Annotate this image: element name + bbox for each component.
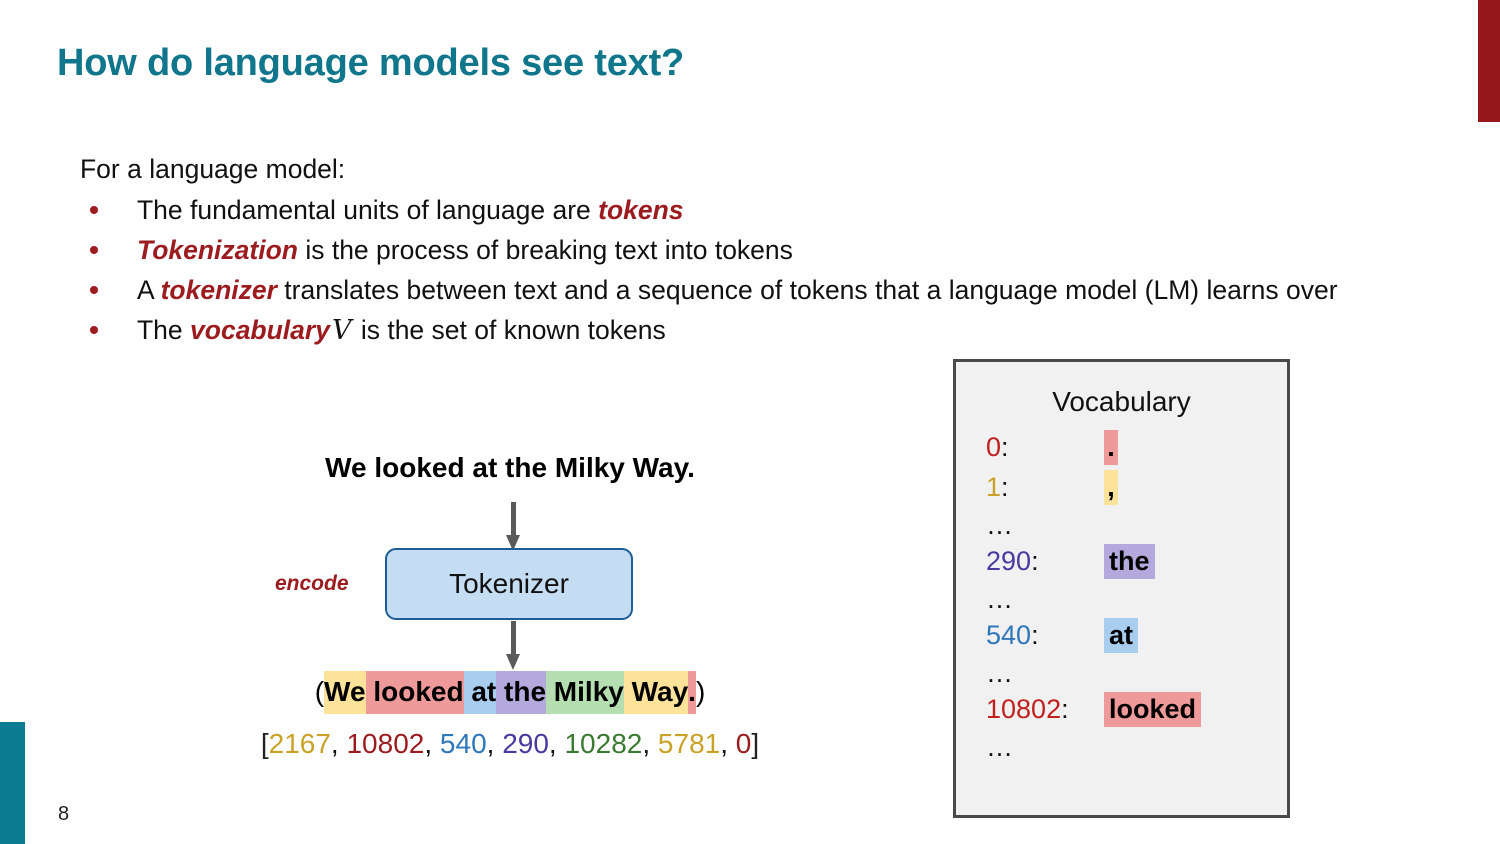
token-chip: looked (366, 671, 464, 714)
vocabulary-entry-value: at (1104, 618, 1138, 653)
id-separator: , (487, 728, 503, 759)
vocabulary-id-colon: : (1001, 472, 1009, 502)
vocabulary-id-colon: : (1001, 432, 1009, 462)
token-id: 10282 (564, 728, 642, 759)
arrow-down-to-tokens-icon (506, 621, 520, 673)
bullet-text: is the process of breaking text into tok… (298, 235, 793, 265)
token-id: 0 (736, 728, 752, 759)
tokenizer-label: Tokenizer (449, 568, 569, 600)
vocabulary-entry-value: , (1104, 470, 1118, 505)
page-title: How do language models see text? (57, 42, 684, 85)
bullet-text: A (137, 275, 161, 305)
vocabulary-token-highlight: looked (1104, 692, 1201, 727)
vocabulary-id-number: 0 (986, 432, 1001, 462)
vocabulary-id-colon: : (1031, 546, 1039, 576)
vocabulary-entry-value: . (1104, 430, 1118, 465)
vocabulary-entry-row: 0:. (986, 430, 1279, 470)
lead-line: For a language model: (80, 150, 1440, 189)
emphasis-term: vocabulary (190, 315, 330, 345)
accent-bar-bottom-left (0, 722, 25, 844)
vocabulary-ellipsis-row: … (986, 732, 1279, 766)
token-chip: Milky (546, 671, 624, 714)
token-strip: (We looked at the Milky Way.) (240, 671, 780, 714)
token-id: 10802 (346, 728, 424, 759)
vocabulary-id-number: 540 (986, 620, 1031, 650)
vocabulary-rows: 0:.1:,…290:the…540:at…10802:looked… (986, 430, 1279, 766)
id-separator: , (720, 728, 736, 759)
bullet-item: The vocabularyV is the set of known toke… (80, 311, 1440, 351)
input-sentence: We looked at the Milky Way. (240, 452, 780, 484)
tokenizer-box: Tokenizer (385, 548, 633, 620)
ellipsis: … (986, 510, 1014, 541)
vocabulary-entry-id: 0: (986, 432, 1104, 463)
vocabulary-id-number: 1 (986, 472, 1001, 502)
vocabulary-token-highlight: at (1104, 618, 1138, 653)
token-close-paren: ) (696, 671, 705, 714)
ellipsis: … (986, 584, 1014, 615)
ellipsis: … (986, 658, 1014, 689)
token-chip: . (688, 671, 696, 714)
vocabulary-id-number: 10802 (986, 694, 1061, 724)
bullet-dot-icon (90, 286, 98, 294)
bullet-item: The fundamental units of language are to… (80, 191, 1440, 230)
page-number: 8 (58, 803, 69, 826)
id-list-close-bracket: ] (751, 728, 759, 759)
vocabulary-ellipsis-row: … (986, 658, 1279, 692)
bullet-dot-icon (90, 246, 98, 254)
vocabulary-entry-value: the (1104, 544, 1155, 579)
vocabulary-entry-row: 1:, (986, 470, 1279, 510)
vocabulary-entry-row: 540:at (986, 618, 1279, 658)
bullet-item: A tokenizer translates between text and … (80, 271, 1440, 310)
arrow-down-to-tokenizer-icon (506, 502, 520, 554)
encode-label: encode (275, 572, 349, 596)
vocabulary-entry-id: 540: (986, 620, 1104, 651)
vocabulary-entry-row: 290:the (986, 544, 1279, 584)
accent-bar-top-right (1478, 0, 1500, 122)
bullet-text: translates between text and a sequence o… (277, 275, 1338, 305)
vocabulary-ellipsis-row: … (986, 584, 1279, 618)
vocabulary-entry-id: 1: (986, 472, 1104, 503)
token-chip: Way (624, 671, 688, 714)
id-list-open-bracket: [ (261, 728, 269, 759)
token-open-paren: ( (315, 671, 324, 714)
token-id: 5781 (658, 728, 720, 759)
bullet-text: The fundamental units of language are (137, 195, 598, 225)
vocabulary-entry-id: 290: (986, 546, 1104, 577)
vocabulary-token-highlight: , (1104, 470, 1118, 505)
vocabulary-id-colon: : (1061, 694, 1069, 724)
bullet-dot-icon (90, 326, 98, 334)
vocabulary-entry-value: looked (1104, 692, 1201, 727)
token-id: 540 (440, 728, 487, 759)
vocabulary-id-number: 290 (986, 546, 1031, 576)
emphasis-term: tokenizer (161, 275, 277, 305)
bullet-item: Tokenization is the process of breaking … (80, 231, 1440, 270)
vocabulary-panel: Vocabulary 0:.1:,…290:the…540:at…10802:l… (953, 359, 1290, 818)
token-chip: the (496, 671, 546, 714)
token-id-list: [2167, 10802, 540, 290, 10282, 5781, 0] (240, 728, 780, 760)
vocabulary-token-highlight: . (1104, 430, 1118, 465)
math-symbol: V (330, 315, 354, 346)
vocabulary-ellipsis-row: … (986, 510, 1279, 544)
tokenization-diagram: We looked at the Milky Way. Tokenizer en… (240, 452, 800, 792)
body-text-block: For a language model: The fundamental un… (80, 150, 1440, 352)
vocabulary-entry-row: 10802:looked (986, 692, 1279, 732)
vocabulary-token-highlight: the (1104, 544, 1155, 579)
emphasis-term: Tokenization (137, 235, 298, 265)
id-separator: , (549, 728, 565, 759)
bullet-dot-icon (90, 206, 98, 214)
token-id: 2167 (269, 728, 331, 759)
emphasis-term: tokens (598, 195, 683, 225)
bullet-text: is the set of known tokens (353, 315, 665, 345)
vocabulary-title: Vocabulary (956, 386, 1287, 418)
vocabulary-entry-id: 10802: (986, 694, 1104, 725)
token-id: 290 (502, 728, 549, 759)
id-separator: , (642, 728, 658, 759)
bullet-list: The fundamental units of language are to… (80, 191, 1440, 351)
id-separator: , (331, 728, 347, 759)
token-chip: at (464, 671, 497, 714)
id-separator: , (424, 728, 440, 759)
token-chip: We (324, 671, 366, 714)
bullet-text: The (137, 315, 190, 345)
vocabulary-id-colon: : (1031, 620, 1039, 650)
ellipsis: … (986, 732, 1014, 763)
